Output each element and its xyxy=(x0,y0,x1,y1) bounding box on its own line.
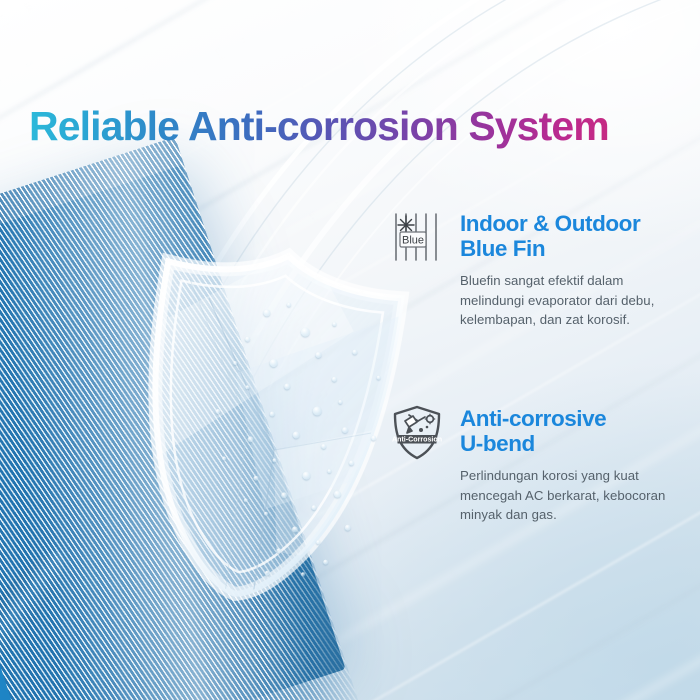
page-title: Reliable Anti-corrosion System xyxy=(29,103,609,150)
feature-blue-fin-body: Bluefin sangat efektif dalam melindungi … xyxy=(460,271,682,330)
feature-anti-corrosive-u-bend-heading: Anti-corrosive U-bend xyxy=(460,406,682,457)
blue-fin-icon-label: Blue xyxy=(402,234,424,246)
protective-shield-graphic xyxy=(102,229,422,619)
anti-corrosion-banner: Reliable Anti-corrosion System xyxy=(0,0,700,700)
anti-corrosion-shield-icon: Anti-Corrosion xyxy=(392,405,442,459)
feature-blue-fin: Blue Indoor & Outdoor Blue Fin Bluefin s… xyxy=(392,210,682,330)
feature-anti-corrosive-u-bend-body: Perlindungan korosi yang kuat mencegah A… xyxy=(460,466,682,525)
water-droplets xyxy=(102,229,422,619)
feature-anti-corrosive-u-bend: Anti-Corrosion Anti-corrosive U-bend Per… xyxy=(392,405,682,525)
feature-blue-fin-text: Indoor & Outdoor Blue Fin Bluefin sangat… xyxy=(460,210,682,330)
anti-corrosion-icon-label: Anti-Corrosion xyxy=(392,436,442,444)
blue-fin-icon: Blue xyxy=(392,210,442,264)
feature-blue-fin-heading: Indoor & Outdoor Blue Fin xyxy=(460,211,682,262)
feature-anti-corrosive-u-bend-text: Anti-corrosive U-bend Perlindungan koros… xyxy=(460,405,682,525)
